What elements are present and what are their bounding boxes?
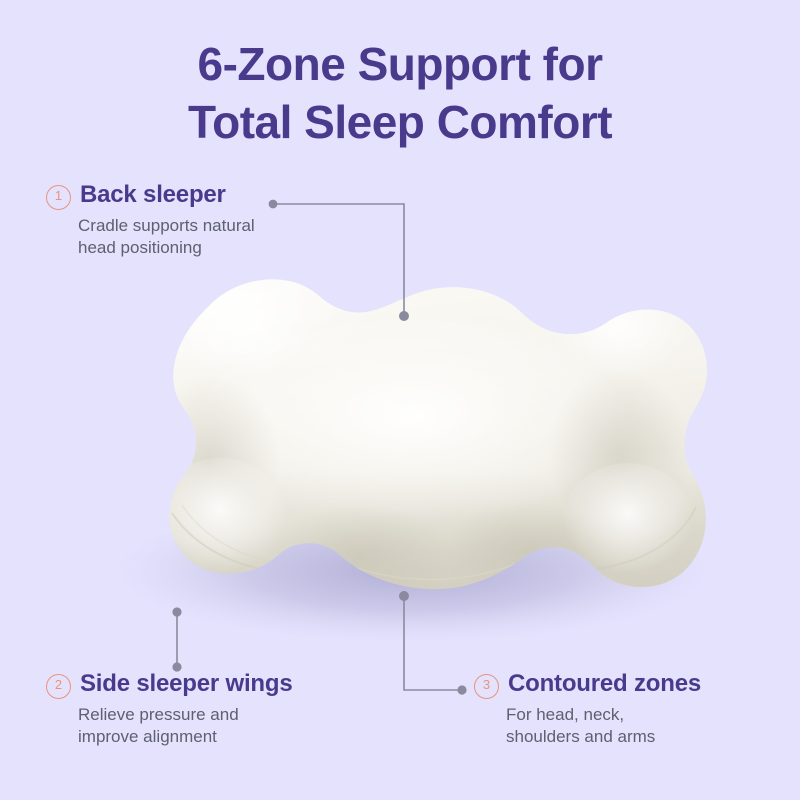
title-line-2: Total Sleep Comfort [0,94,800,152]
callout-3-description: For head, neck, shoulders and arms [506,704,701,749]
callout-1-desc-line-2: head positioning [78,237,255,259]
callout-2-desc-line-2: improve alignment [78,726,292,748]
callout-3-headline: Contoured zones [508,670,701,698]
callout-3-desc-line-2: shoulders and arms [506,726,701,748]
callout-3-desc-line-1: For head, neck, [506,704,701,726]
callout-side-sleeper-wings: 2 Side sleeper wings Relieve pressure an… [46,670,292,749]
callout-2-description: Relieve pressure and improve alignment [78,704,292,749]
callout-contoured-zones: 3 Contoured zones For head, neck, should… [474,670,701,749]
callout-2-desc-line-1: Relieve pressure and [78,704,292,726]
callout-1-description: Cradle supports natural head positioning [78,215,255,260]
callout-1-head: 1 Back sleeper [46,181,255,210]
pillow-illustration [60,255,740,655]
infographic-canvas: 6-Zone Support for Total Sleep Comfort [0,0,800,800]
title-line-1: 6-Zone Support for [198,38,603,90]
callout-back-sleeper: 1 Back sleeper Cradle supports natural h… [46,181,255,260]
callout-1-desc-line-1: Cradle supports natural [78,215,255,237]
callout-1-number-badge: 1 [46,185,71,210]
callout-3-head: 3 Contoured zones [474,670,701,699]
callout-2-headline: Side sleeper wings [80,670,292,698]
callout-1-headline: Back sleeper [80,181,226,209]
callout-3-number-badge: 3 [474,674,499,699]
callout-2-head: 2 Side sleeper wings [46,670,292,699]
callout-2-number-badge: 2 [46,674,71,699]
page-title: 6-Zone Support for Total Sleep Comfort [0,36,800,151]
